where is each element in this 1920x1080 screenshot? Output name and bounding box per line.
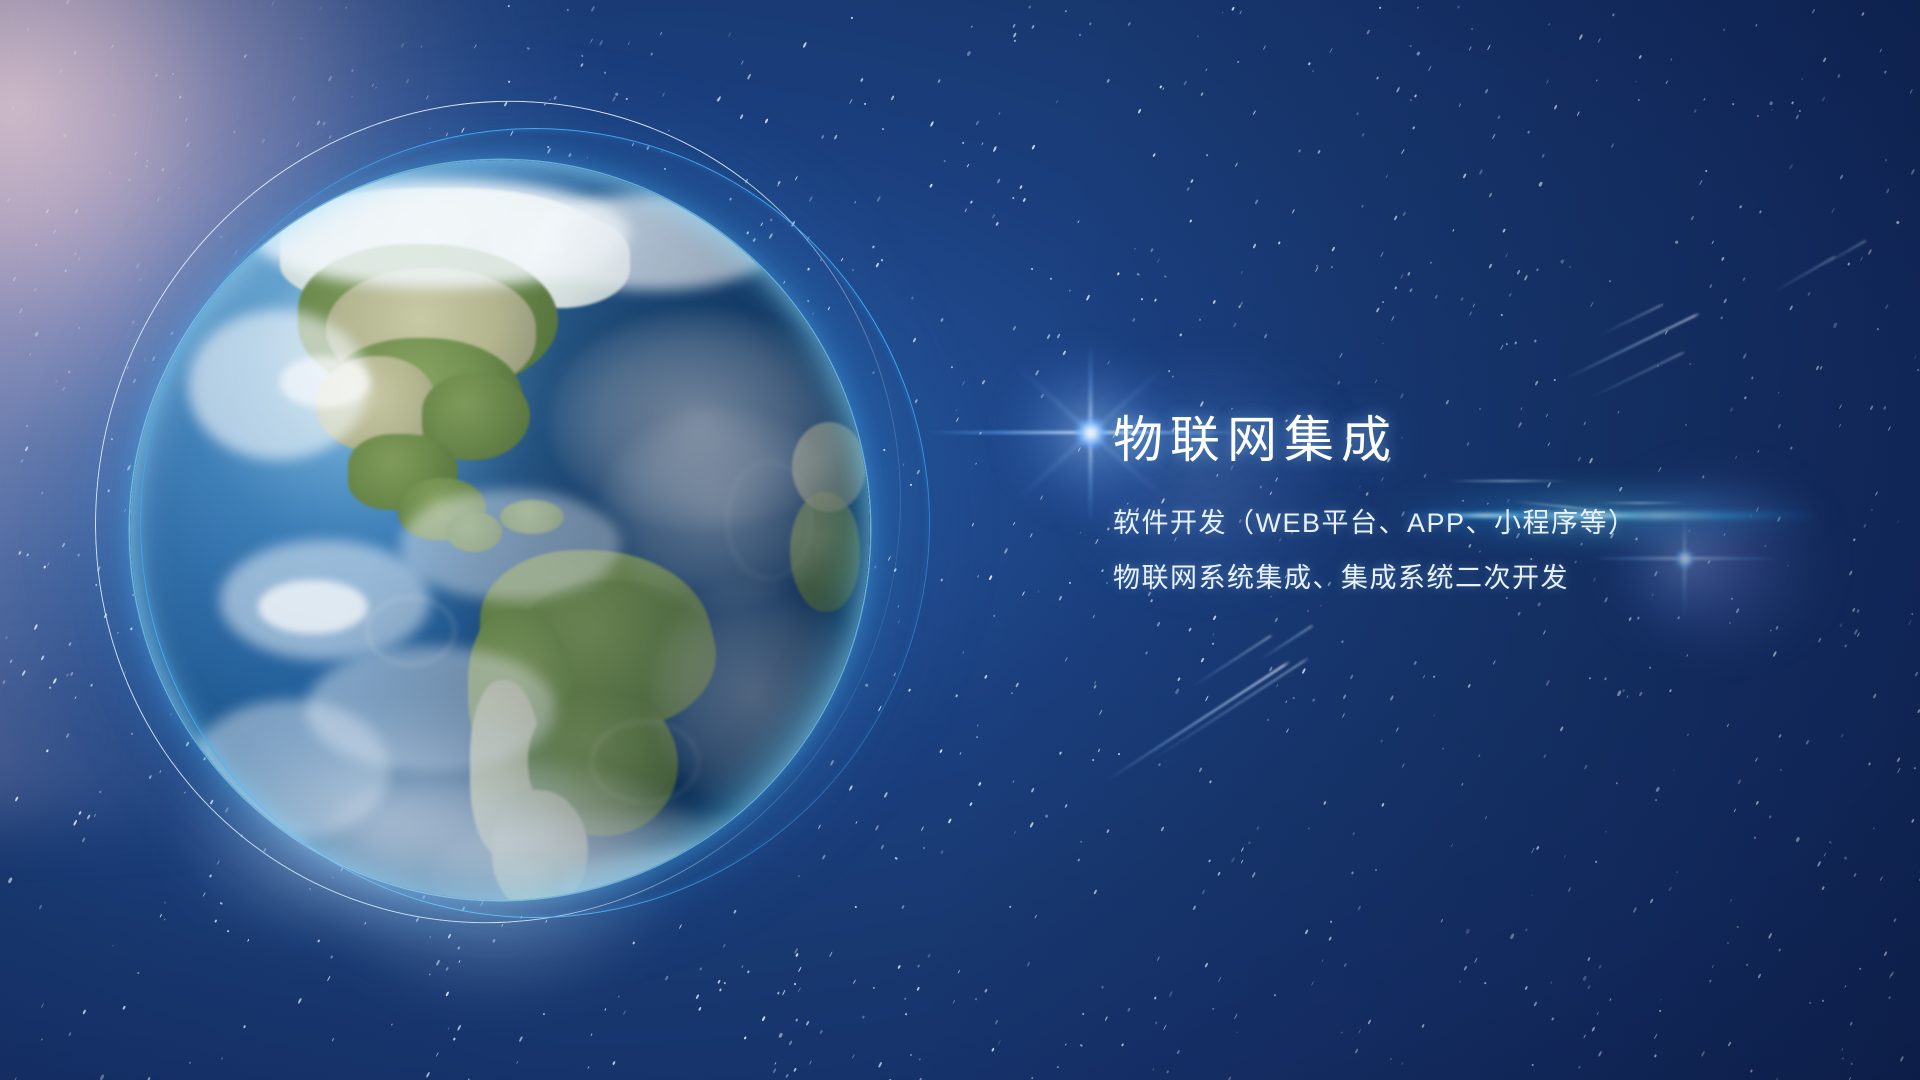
page-title: 物联网集成	[1113, 414, 1853, 467]
subtitle-line-1: 软件开发（WEB平台、APP、小程序等）	[1113, 505, 1853, 541]
hero-copy: 物联网集成 软件开发（WEB平台、APP、小程序等） 物联网系统集成、集成系统二…	[1113, 414, 1853, 596]
subtitle-line-2: 物联网系统集成、集成系统二次开发	[1113, 560, 1853, 596]
hero-banner: 物联网集成 软件开发（WEB平台、APP、小程序等） 物联网系统集成、集成系统二…	[0, 0, 1920, 1080]
